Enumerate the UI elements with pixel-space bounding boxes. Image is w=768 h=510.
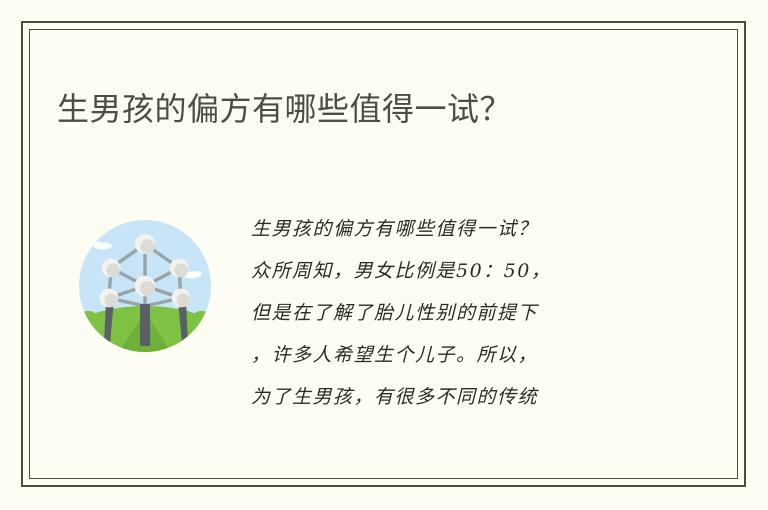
body-line: ，许多人希望生个儿子。所以， — [251, 334, 671, 376]
page-title: 生男孩的偏方有哪些值得一试？ — [57, 88, 512, 130]
article-body-text: 生男孩的偏方有哪些值得一试？ 众所周知，男女比例是50：50， 但是在了解了胎儿… — [251, 208, 671, 418]
article-thumbnail — [79, 220, 211, 352]
body-line: 但是在了解了胎儿性别的前提下 — [251, 292, 671, 334]
body-line: 众所周知，男女比例是50：50， — [251, 250, 671, 292]
atomium-landmark-icon — [79, 220, 211, 352]
article-content-row: 生男孩的偏方有哪些值得一试？ 众所周知，男女比例是50：50， 但是在了解了胎儿… — [57, 208, 697, 418]
body-line: 为了生男孩，有很多不同的传统 — [251, 376, 671, 418]
body-line: 生男孩的偏方有哪些值得一试？ — [251, 208, 671, 250]
page-canvas: 生男孩的偏方有哪些值得一试？ — [0, 0, 768, 510]
